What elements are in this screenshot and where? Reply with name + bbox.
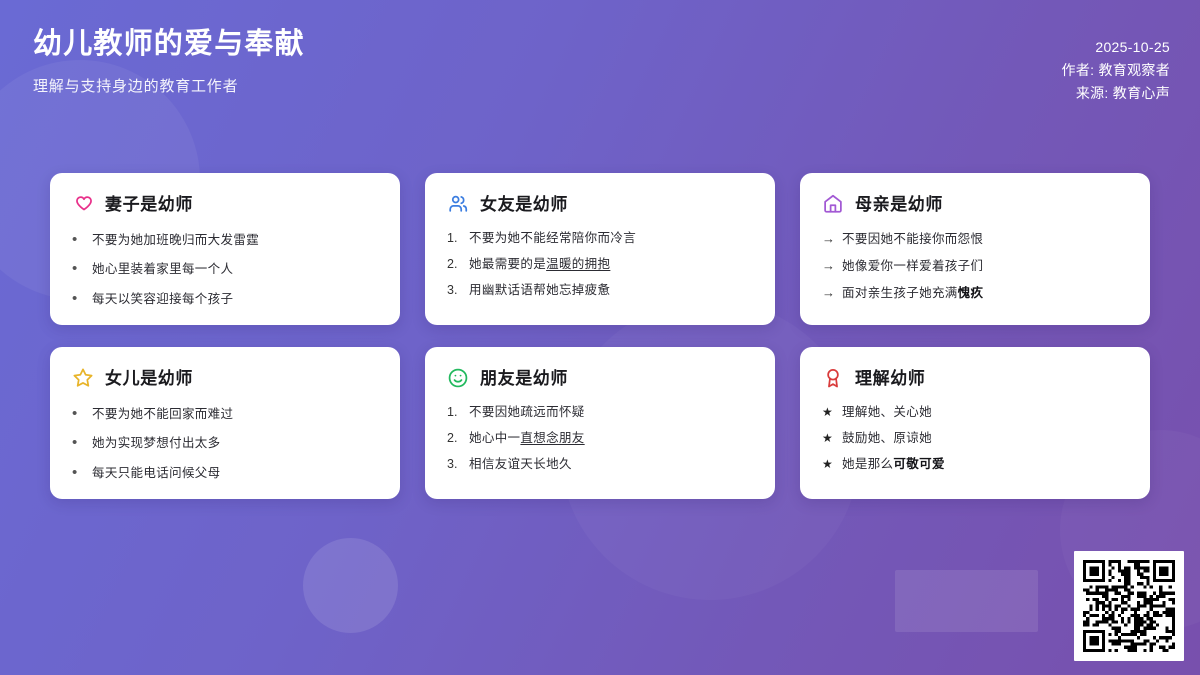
card-list: 1.不要因她疏远而怀疑2.她心中一直想念朋友3.相信友谊天长地久: [447, 404, 753, 473]
card-title: 母亲是幼师: [855, 196, 943, 213]
info-card[interactable]: 朋友是幼师1.不要因她疏远而怀疑2.她心中一直想念朋友3.相信友谊天长地久: [425, 347, 775, 499]
list-item-text: 理解她、关心她: [842, 404, 932, 421]
list-marker: 1.: [447, 230, 462, 247]
page-subtitle: 理解与支持身边的教育工作者: [33, 77, 305, 97]
info-card[interactable]: 理解幼师★理解她、关心她★鼓励她、原谅她★她是那么可敬可爱: [800, 347, 1150, 499]
list-item: →不要因她不能接你而怨恨: [822, 230, 1128, 248]
list-item: •她心里装着家里每一个人: [72, 259, 378, 279]
list-item-text: 不要为她不能经常陪你而冷言: [469, 230, 636, 247]
list-item-text: 相信友谊天长地久: [469, 456, 572, 473]
list-item-text: 不要因她疏远而怀疑: [469, 404, 585, 421]
card-list: •不要为她不能回家而难过•她为实现梦想付出太多•每天只能电话问候父母: [72, 404, 378, 483]
list-marker: •: [72, 289, 85, 309]
list-marker: →: [822, 257, 835, 275]
list-item-text-plain: 她最需要的是: [469, 257, 546, 271]
list-marker: 2.: [447, 430, 462, 447]
header-meta-group: 2025-10-25 作者: 教育观察者 来源: 教育心声: [1062, 26, 1170, 105]
list-item-text: 用幽默话语帮她忘掉疲惫: [469, 282, 610, 299]
list-marker: ★: [822, 404, 835, 420]
list-marker: 2.: [447, 256, 462, 273]
users-icon: [447, 193, 469, 215]
list-marker: •: [72, 433, 85, 453]
list-item-text-emphasis: 可敬可爱: [893, 457, 944, 471]
source-label: 来源: 教育心声: [1076, 82, 1170, 105]
info-card[interactable]: 女友是幼师1.不要为她不能经常陪你而冷言2.她最需要的是温暖的拥抱3.用幽默话语…: [425, 173, 775, 325]
list-item: 3.相信友谊天长地久: [447, 456, 753, 473]
card-list: ★理解她、关心她★鼓励她、原谅她★她是那么可敬可爱: [822, 404, 1128, 473]
list-item-text: 不要为她不能回家而难过: [92, 406, 233, 423]
card-title: 理解幼师: [855, 370, 925, 387]
list-item: 1.不要因她疏远而怀疑: [447, 404, 753, 421]
poster-header: 幼儿教师的爱与奉献 理解与支持身边的教育工作者 2025-10-25 作者: 教…: [0, 0, 1200, 150]
list-marker: →: [822, 230, 835, 248]
page-title: 幼儿教师的爱与奉献: [33, 26, 305, 64]
list-item: 2.她心中一直想念朋友: [447, 430, 753, 447]
poster-canvas: 幼儿教师的爱与奉献 理解与支持身边的教育工作者 2025-10-25 作者: 教…: [0, 0, 1200, 675]
card-title: 女儿是幼师: [105, 370, 193, 387]
list-item: •不要为她不能回家而难过: [72, 404, 378, 424]
list-item-text: 不要因她不能接你而怨恨: [842, 231, 983, 248]
list-item: 2.她最需要的是温暖的拥抱: [447, 256, 753, 273]
heart-icon: [72, 193, 94, 215]
card-title: 妻子是幼师: [105, 196, 193, 213]
card-header: 朋友是幼师: [447, 367, 753, 389]
list-item-text: 每天以笑容迎接每个孩子: [92, 291, 233, 308]
list-item-text: 她心里装着家里每一个人: [92, 261, 233, 278]
decor-circle-bottom-left: [303, 538, 398, 633]
info-card[interactable]: 女儿是幼师•不要为她不能回家而难过•她为实现梦想付出太多•每天只能电话问候父母: [50, 347, 400, 499]
home-icon: [822, 193, 844, 215]
list-marker: 3.: [447, 456, 462, 473]
list-item-text: 她为实现梦想付出太多: [92, 435, 221, 452]
list-item: •她为实现梦想付出太多: [72, 433, 378, 453]
qr-code[interactable]: [1074, 551, 1184, 661]
card-title: 朋友是幼师: [480, 370, 568, 387]
award-icon: [822, 367, 844, 389]
list-marker: •: [72, 463, 85, 483]
list-marker: 3.: [447, 282, 462, 299]
list-marker: ★: [822, 456, 835, 472]
list-marker: •: [72, 230, 85, 250]
list-item-text: 不要为她加班晚归而大发雷霆: [92, 232, 259, 249]
list-item-text-underlined: 温暖的拥抱: [546, 257, 610, 271]
list-marker: →: [822, 284, 835, 302]
smile-icon: [447, 367, 469, 389]
list-marker: ★: [822, 430, 835, 446]
publish-date: 2025-10-25: [1095, 36, 1170, 59]
list-item-text: 鼓励她、原谅她: [842, 430, 932, 447]
list-item-text: 她最需要的是温暖的拥抱: [469, 256, 610, 273]
list-marker: 1.: [447, 404, 462, 421]
list-item-text-emphasis: 愧疚: [958, 286, 984, 300]
list-item: ★理解她、关心她: [822, 404, 1128, 421]
list-item: →面对亲生孩子她充满愧疚: [822, 284, 1128, 302]
card-list: 1.不要为她不能经常陪你而冷言2.她最需要的是温暖的拥抱3.用幽默话语帮她忘掉疲…: [447, 230, 753, 299]
card-list: •不要为她加班晚归而大发雷霆•她心里装着家里每一个人•每天以笑容迎接每个孩子: [72, 230, 378, 309]
list-item-text: 她是那么可敬可爱: [842, 456, 945, 473]
list-item: 1.不要为她不能经常陪你而冷言: [447, 230, 753, 247]
list-item: →她像爱你一样爱着孩子们: [822, 257, 1128, 275]
author-label: 作者: 教育观察者: [1062, 59, 1170, 82]
list-item: •不要为她加班晚归而大发雷霆: [72, 230, 378, 250]
list-item: 3.用幽默话语帮她忘掉疲惫: [447, 282, 753, 299]
list-marker: •: [72, 259, 85, 279]
header-text-group: 幼儿教师的爱与奉献 理解与支持身边的教育工作者: [33, 26, 305, 96]
list-item-text-plain: 她是那么: [842, 457, 893, 471]
list-item-text: 每天只能电话问候父母: [92, 465, 221, 482]
list-item: ★鼓励她、原谅她: [822, 430, 1128, 447]
info-card[interactable]: 妻子是幼师•不要为她加班晚归而大发雷霆•她心里装着家里每一个人•每天以笑容迎接每…: [50, 173, 400, 325]
list-item-text: 她心中一直想念朋友: [469, 430, 585, 447]
card-header: 母亲是幼师: [822, 193, 1128, 215]
card-header: 女儿是幼师: [72, 367, 378, 389]
list-item-text-underlined: 直想念朋友: [520, 431, 584, 445]
star-icon: [72, 367, 94, 389]
card-grid: 妻子是幼师•不要为她加班晚归而大发雷霆•她心里装着家里每一个人•每天以笑容迎接每…: [50, 173, 1150, 499]
list-item-text-plain: 面对亲生孩子她充满: [842, 286, 958, 300]
list-item-text: 她像爱你一样爱着孩子们: [842, 258, 983, 275]
decor-rectangle: [895, 570, 1038, 632]
list-item: •每天只能电话问候父母: [72, 463, 378, 483]
card-title: 女友是幼师: [480, 196, 568, 213]
list-marker: •: [72, 404, 85, 424]
list-item-text-plain: 她心中一: [469, 431, 520, 445]
card-list: →不要因她不能接你而怨恨→她像爱你一样爱着孩子们→面对亲生孩子她充满愧疚: [822, 230, 1128, 302]
card-header: 理解幼师: [822, 367, 1128, 389]
list-item-text: 面对亲生孩子她充满愧疚: [842, 285, 983, 302]
list-item: •每天以笑容迎接每个孩子: [72, 289, 378, 309]
qr-code-image: [1083, 560, 1175, 652]
card-header: 妻子是幼师: [72, 193, 378, 215]
info-card[interactable]: 母亲是幼师→不要因她不能接你而怨恨→她像爱你一样爱着孩子们→面对亲生孩子她充满愧…: [800, 173, 1150, 325]
list-item: ★她是那么可敬可爱: [822, 456, 1128, 473]
card-header: 女友是幼师: [447, 193, 753, 215]
